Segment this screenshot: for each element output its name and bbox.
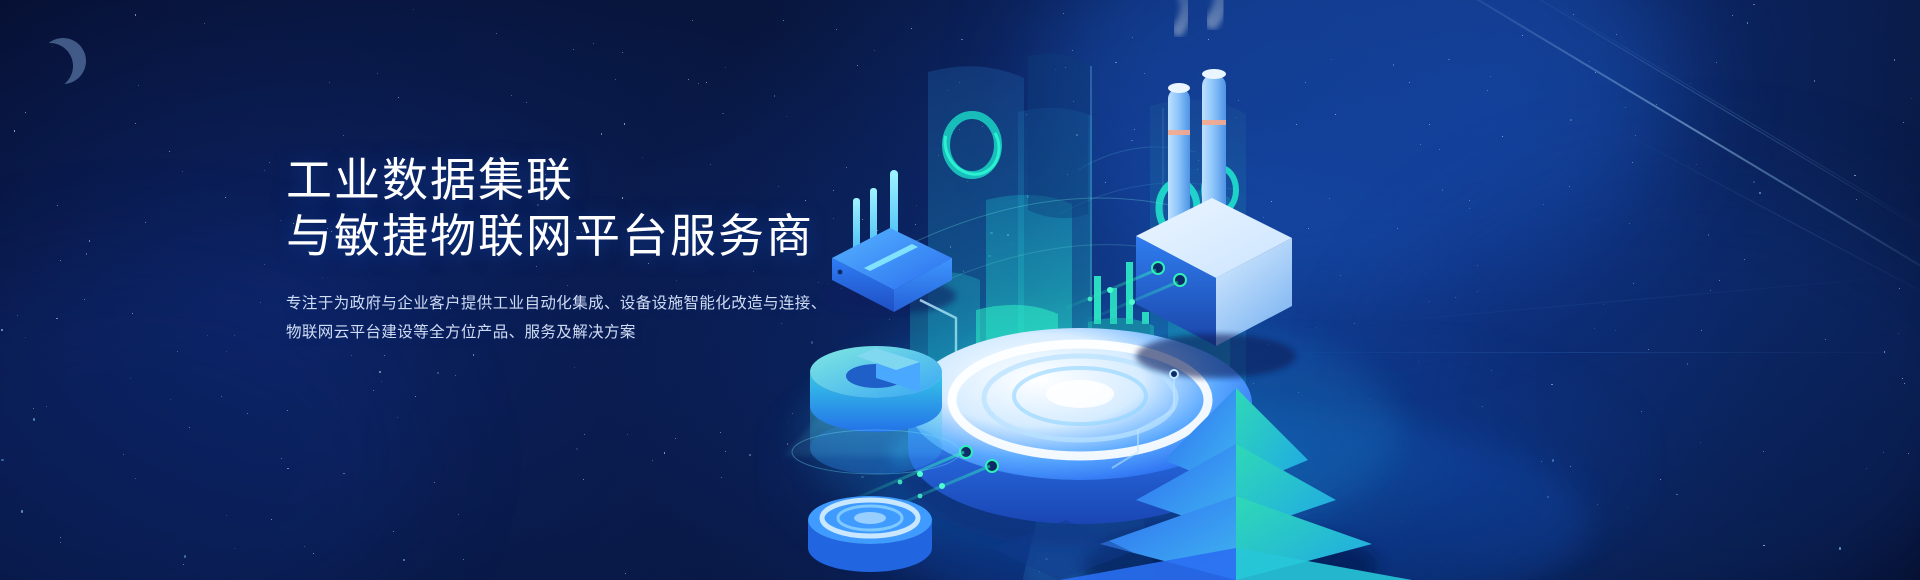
star [725,67,726,68]
star [397,417,398,418]
star [692,20,693,21]
star [720,432,721,433]
hero-banner: 工业数据集联 与敏捷物联网平台服务商 专注于为政府与企业客户提供工业自动化集成、… [0,0,1920,580]
star [221,396,222,397]
star [511,95,512,96]
star [269,162,270,163]
star [264,170,266,172]
star [281,458,282,459]
star [526,102,527,103]
star [189,427,190,428]
star [437,372,439,374]
star [135,123,136,124]
star [17,315,18,316]
star [584,434,585,435]
star [698,83,699,84]
star [615,79,616,80]
star [138,85,139,86]
star [398,97,399,98]
star [625,573,626,574]
star [313,553,314,554]
star [25,112,26,113]
star [14,130,16,132]
headline-line-1: 工业数据集联 [286,154,574,206]
star [287,468,289,470]
star [60,260,61,261]
pad-core [854,512,886,524]
star [379,371,381,373]
star [56,318,58,320]
star [169,151,170,152]
star [706,82,707,83]
star [576,448,578,450]
star [234,548,235,549]
star [583,479,584,480]
star [25,337,26,338]
star [184,555,186,557]
star [593,43,594,44]
star [574,367,575,368]
star [722,113,724,115]
star [688,79,689,80]
star [1,459,3,461]
glass-fin-right [1028,54,1088,219]
star [343,473,345,475]
star [455,375,456,376]
isometric-illustration [760,0,1920,580]
star [183,564,184,565]
star [343,135,344,136]
star [84,299,85,300]
star [57,205,58,206]
star [377,73,378,74]
star [573,49,574,50]
smoke [1175,0,1222,30]
star [182,171,183,172]
star [86,253,88,255]
star [384,355,385,356]
star [496,33,497,34]
star [264,264,265,265]
star [351,355,352,356]
star [135,478,136,479]
disc-core [1046,380,1114,408]
star [33,418,35,420]
star [60,537,61,538]
star [60,542,62,544]
star [33,408,34,409]
star [123,454,124,455]
star [204,23,205,24]
star [52,46,53,47]
star [260,302,261,303]
star [458,514,459,515]
star [403,559,405,561]
star [664,452,666,454]
star [247,413,248,414]
star [130,378,131,379]
star [725,451,726,452]
star [89,240,91,242]
star [304,546,305,547]
star [46,406,47,407]
star [463,559,464,560]
star [21,510,23,512]
star [413,9,414,10]
star [329,82,331,84]
star [170,399,171,400]
star [132,313,133,314]
star [749,454,751,456]
star [721,477,722,478]
star [373,390,374,391]
star [226,515,227,516]
star [207,335,208,336]
star [381,381,382,382]
star [434,482,435,483]
star [473,354,475,356]
star [226,351,227,352]
star [271,519,272,520]
star [652,460,653,461]
star [624,123,626,125]
star [177,351,179,353]
star [627,434,628,435]
star [675,438,676,439]
star [601,133,603,135]
star [393,531,395,533]
star [135,14,137,16]
target-pad [808,496,932,572]
star [415,396,416,397]
star [1,329,3,331]
star [280,220,281,221]
star [234,335,235,336]
star [145,222,146,223]
router-led [838,270,843,275]
star [622,52,623,53]
star [287,410,288,411]
star [225,197,226,198]
